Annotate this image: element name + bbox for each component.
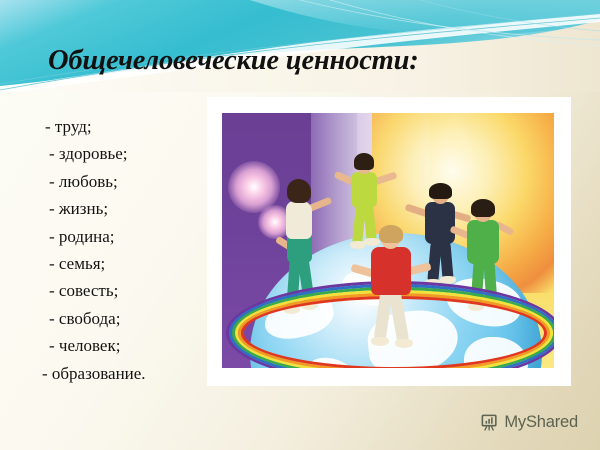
list-item: - образование. bbox=[42, 365, 210, 382]
list-item: - любовь; bbox=[49, 173, 210, 190]
illustration-children-globe-rainbow bbox=[222, 113, 554, 368]
shirt bbox=[351, 172, 377, 208]
page-title: Общечеловеческие ценности: bbox=[48, 45, 419, 77]
list-item: - свобода; bbox=[49, 310, 210, 327]
shirt bbox=[467, 220, 499, 264]
slide: Общечеловеческие ценности: - труд; - здо… bbox=[0, 0, 600, 450]
shirt bbox=[286, 201, 312, 239]
list-item: - труд; bbox=[45, 118, 210, 135]
shoe bbox=[371, 337, 389, 346]
list-item: - жизнь; bbox=[49, 200, 210, 217]
values-list: - труд; - здоровье; - любовь; - жизнь; -… bbox=[40, 118, 210, 392]
list-item: - здоровье; bbox=[49, 145, 210, 162]
illustration-frame bbox=[207, 97, 571, 386]
list-item: - совесть; bbox=[49, 282, 210, 299]
presentation-chart-icon bbox=[480, 413, 499, 432]
hair bbox=[287, 179, 311, 203]
shoe bbox=[395, 339, 413, 348]
shirt bbox=[371, 247, 411, 295]
child-red bbox=[365, 225, 429, 361]
list-item: - человек; bbox=[49, 337, 210, 354]
watermark: MyShared bbox=[480, 413, 578, 432]
hair bbox=[379, 225, 403, 243]
shirt bbox=[425, 202, 455, 244]
watermark-label: MyShared bbox=[504, 413, 578, 432]
list-item: - родина; bbox=[49, 228, 210, 245]
hair bbox=[429, 183, 452, 199]
hair bbox=[471, 199, 495, 217]
hair bbox=[354, 153, 374, 170]
list-item: - семья; bbox=[49, 255, 210, 272]
leg bbox=[389, 290, 410, 343]
